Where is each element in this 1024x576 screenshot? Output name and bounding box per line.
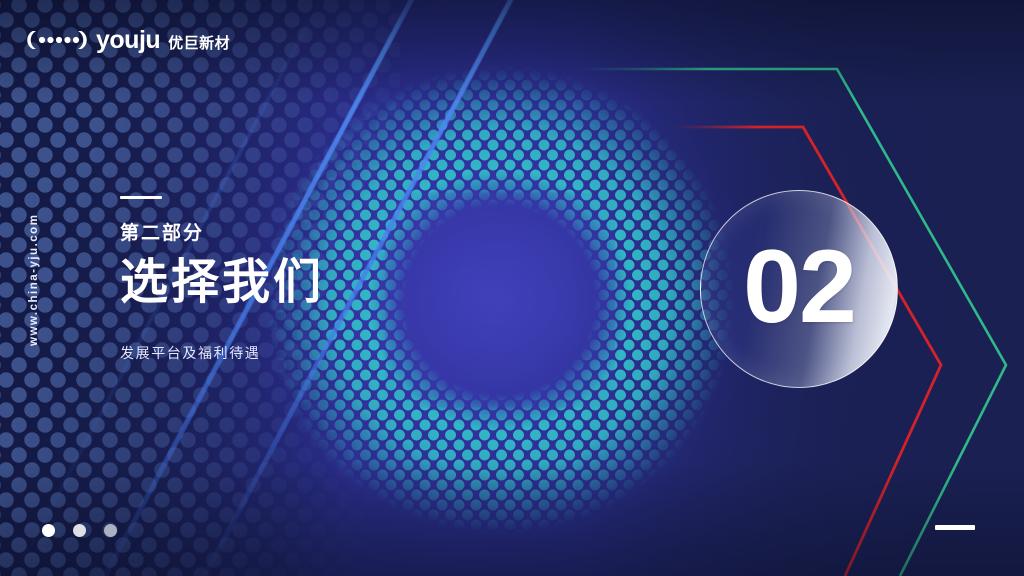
logo-wordmark: youju xyxy=(96,28,160,53)
logo-chinese-name: 优巨新材 xyxy=(168,36,230,51)
page-title: 选择我们 xyxy=(120,256,460,310)
presentation-slide: youju 优巨新材 www.china-yju.com 第二部分 选择我们 发… xyxy=(0,0,1024,576)
vertical-url-text: www.china-yju.com xyxy=(28,214,40,346)
dot-2 xyxy=(73,524,86,537)
section-subtitle: 发展平台及福利待遇 xyxy=(120,344,460,362)
brand-logo[interactable]: youju 优巨新材 xyxy=(26,25,230,55)
decorative-dots xyxy=(42,524,117,537)
dot-1 xyxy=(42,524,55,537)
bottom-right-dash xyxy=(935,525,975,530)
title-block: 第二部分 选择我们 发展平台及福利待遇 xyxy=(120,196,460,362)
section-number: 02 xyxy=(743,235,855,339)
section-number-badge: 02 xyxy=(700,190,898,388)
divider-rule xyxy=(120,196,162,199)
bracket-dots-logo-icon xyxy=(26,29,88,51)
section-eyebrow: 第二部分 xyxy=(120,223,460,246)
dot-3 xyxy=(104,524,117,537)
